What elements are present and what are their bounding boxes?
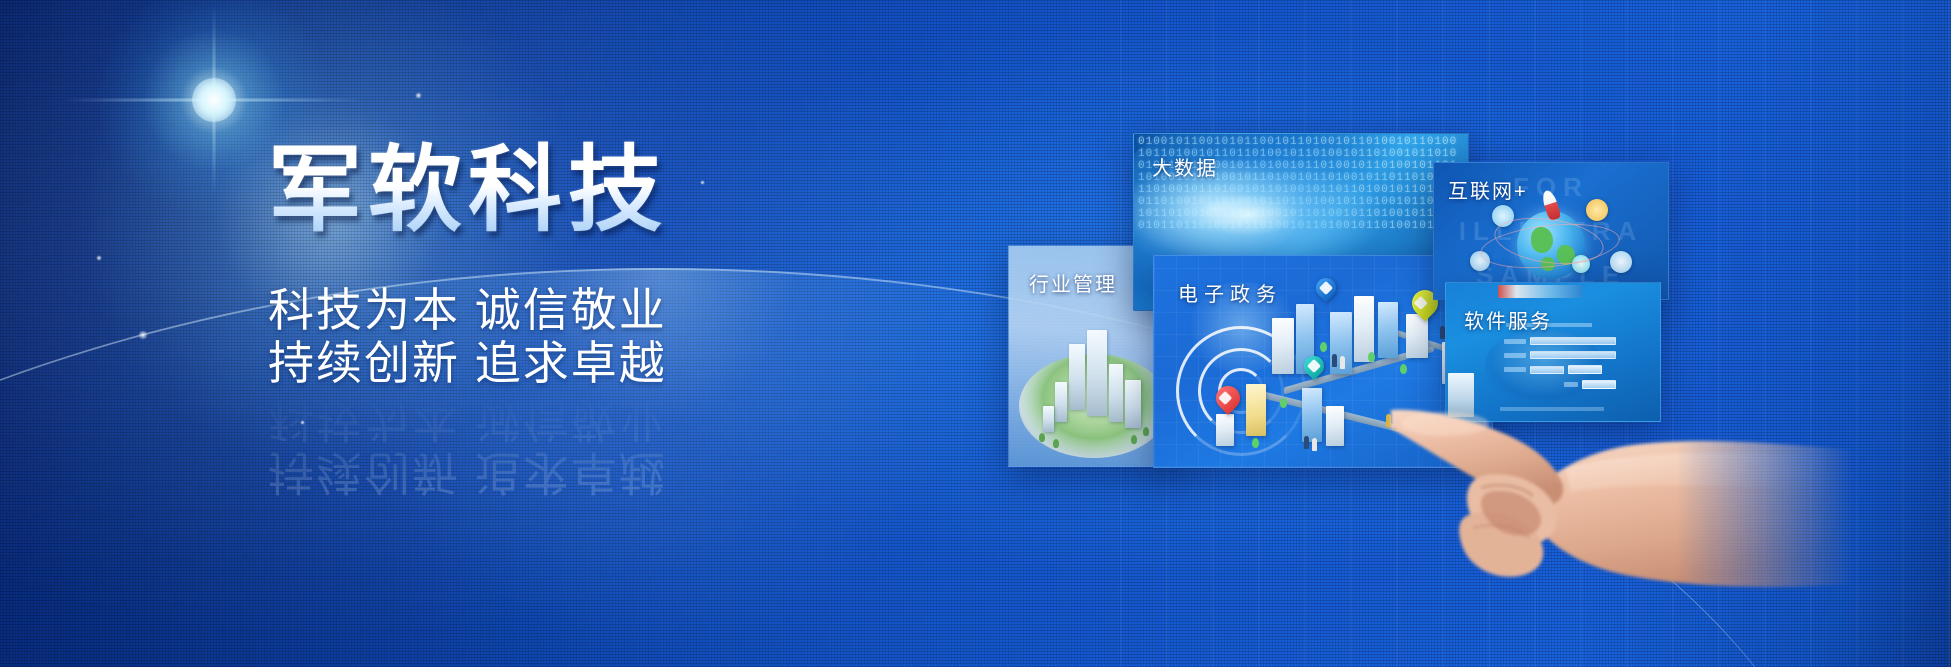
sparkle-icon <box>96 255 102 261</box>
tree-icon <box>1368 352 1375 362</box>
username-label <box>1504 339 1526 344</box>
sparkle-icon <box>415 92 422 99</box>
form-row-username[interactable] <box>1504 337 1616 345</box>
form-row-captcha[interactable] <box>1504 365 1616 374</box>
lens-flare-ray-horizontal <box>64 99 364 102</box>
form-footer-bar <box>1500 407 1604 411</box>
tree-icon <box>1143 427 1149 436</box>
slogan-reflection: 持续创新 追求卓越 科技为本 诚信敬业 <box>268 392 908 499</box>
monitor-node-icon <box>1610 251 1632 273</box>
tree-icon <box>1280 398 1287 408</box>
captcha-label <box>1504 367 1526 372</box>
warning-node-icon <box>1586 199 1608 221</box>
panel-internet-plus[interactable]: FOR ILLUSTRA SAMPLE 互联网+ <box>1433 162 1669 300</box>
building-icon <box>1216 414 1234 446</box>
tree-icon <box>1252 438 1259 448</box>
building-icon <box>1043 406 1054 432</box>
person-icon <box>1304 436 1309 449</box>
form-row-submit[interactable] <box>1504 380 1616 389</box>
slogan-line-2: 持续创新 追求卓越 <box>268 337 908 390</box>
tree-icon <box>1053 439 1059 448</box>
sparkle-icon <box>138 330 148 340</box>
panel-label-internet-plus: 互联网+ <box>1448 175 1528 204</box>
person-icon <box>1386 414 1391 427</box>
person-icon <box>1340 356 1345 369</box>
building-icon <box>1302 388 1322 442</box>
tree-icon <box>1131 435 1137 444</box>
building-icon <box>1448 373 1474 417</box>
building-icon <box>1109 364 1123 422</box>
tree-icon <box>1039 433 1045 442</box>
login-button[interactable] <box>1582 380 1616 389</box>
brand-badge-icon <box>1498 285 1582 298</box>
building-icon <box>1246 384 1266 436</box>
slogan-group: 科技为本 诚信敬业 持续创新 追求卓越 <box>268 284 908 391</box>
captcha-image[interactable] <box>1568 365 1602 374</box>
tree-icon <box>1320 342 1327 352</box>
username-input[interactable] <box>1530 337 1616 345</box>
form-row-password[interactable] <box>1504 351 1616 359</box>
password-input[interactable] <box>1530 351 1616 359</box>
slogan-reflection-line-1: 科技为本 诚信敬业 <box>268 392 908 445</box>
panel-label-software-service: 软件服务 <box>1464 305 1552 334</box>
panel-label-e-government: 电子政务 <box>1178 278 1282 307</box>
captcha-input[interactable] <box>1530 366 1564 374</box>
building-icon <box>1378 302 1398 358</box>
lens-flare-core <box>192 78 236 122</box>
login-form[interactable] <box>1504 337 1616 395</box>
remember-me-checkbox[interactable] <box>1564 382 1578 387</box>
slogan-line-1: 科技为本 诚信敬业 <box>268 284 908 337</box>
lens-flare-ray-vertical <box>213 5 216 195</box>
slogan-reflection-line-2: 持续创新 追求卓越 <box>268 446 908 499</box>
building-icon <box>1272 318 1294 374</box>
building-icon <box>1326 406 1344 446</box>
password-label <box>1504 353 1526 358</box>
panel-label-industry: 行业管理 <box>1029 268 1117 297</box>
person-icon <box>1394 416 1399 429</box>
person-icon <box>1312 438 1317 451</box>
building-icon <box>1125 380 1141 428</box>
building-icon <box>1069 344 1085 410</box>
page-title: 军软科技 <box>268 140 908 240</box>
panel-software-service[interactable]: 软件服务 <box>1445 282 1661 422</box>
tree-icon <box>1400 364 1407 374</box>
panel-label-big-data: 大数据 <box>1152 152 1218 181</box>
person-icon <box>1332 354 1337 367</box>
hero-text-block: 军软科技 科技为本 诚信敬业 持续创新 追求卓越 持续创新 追求卓越 科技为本 … <box>268 140 908 499</box>
hero-banner: 军软科技 科技为本 诚信敬业 持续创新 追求卓越 持续创新 追求卓越 科技为本 … <box>0 0 1951 667</box>
building-icon <box>1087 330 1107 416</box>
building-icon <box>1055 382 1067 422</box>
